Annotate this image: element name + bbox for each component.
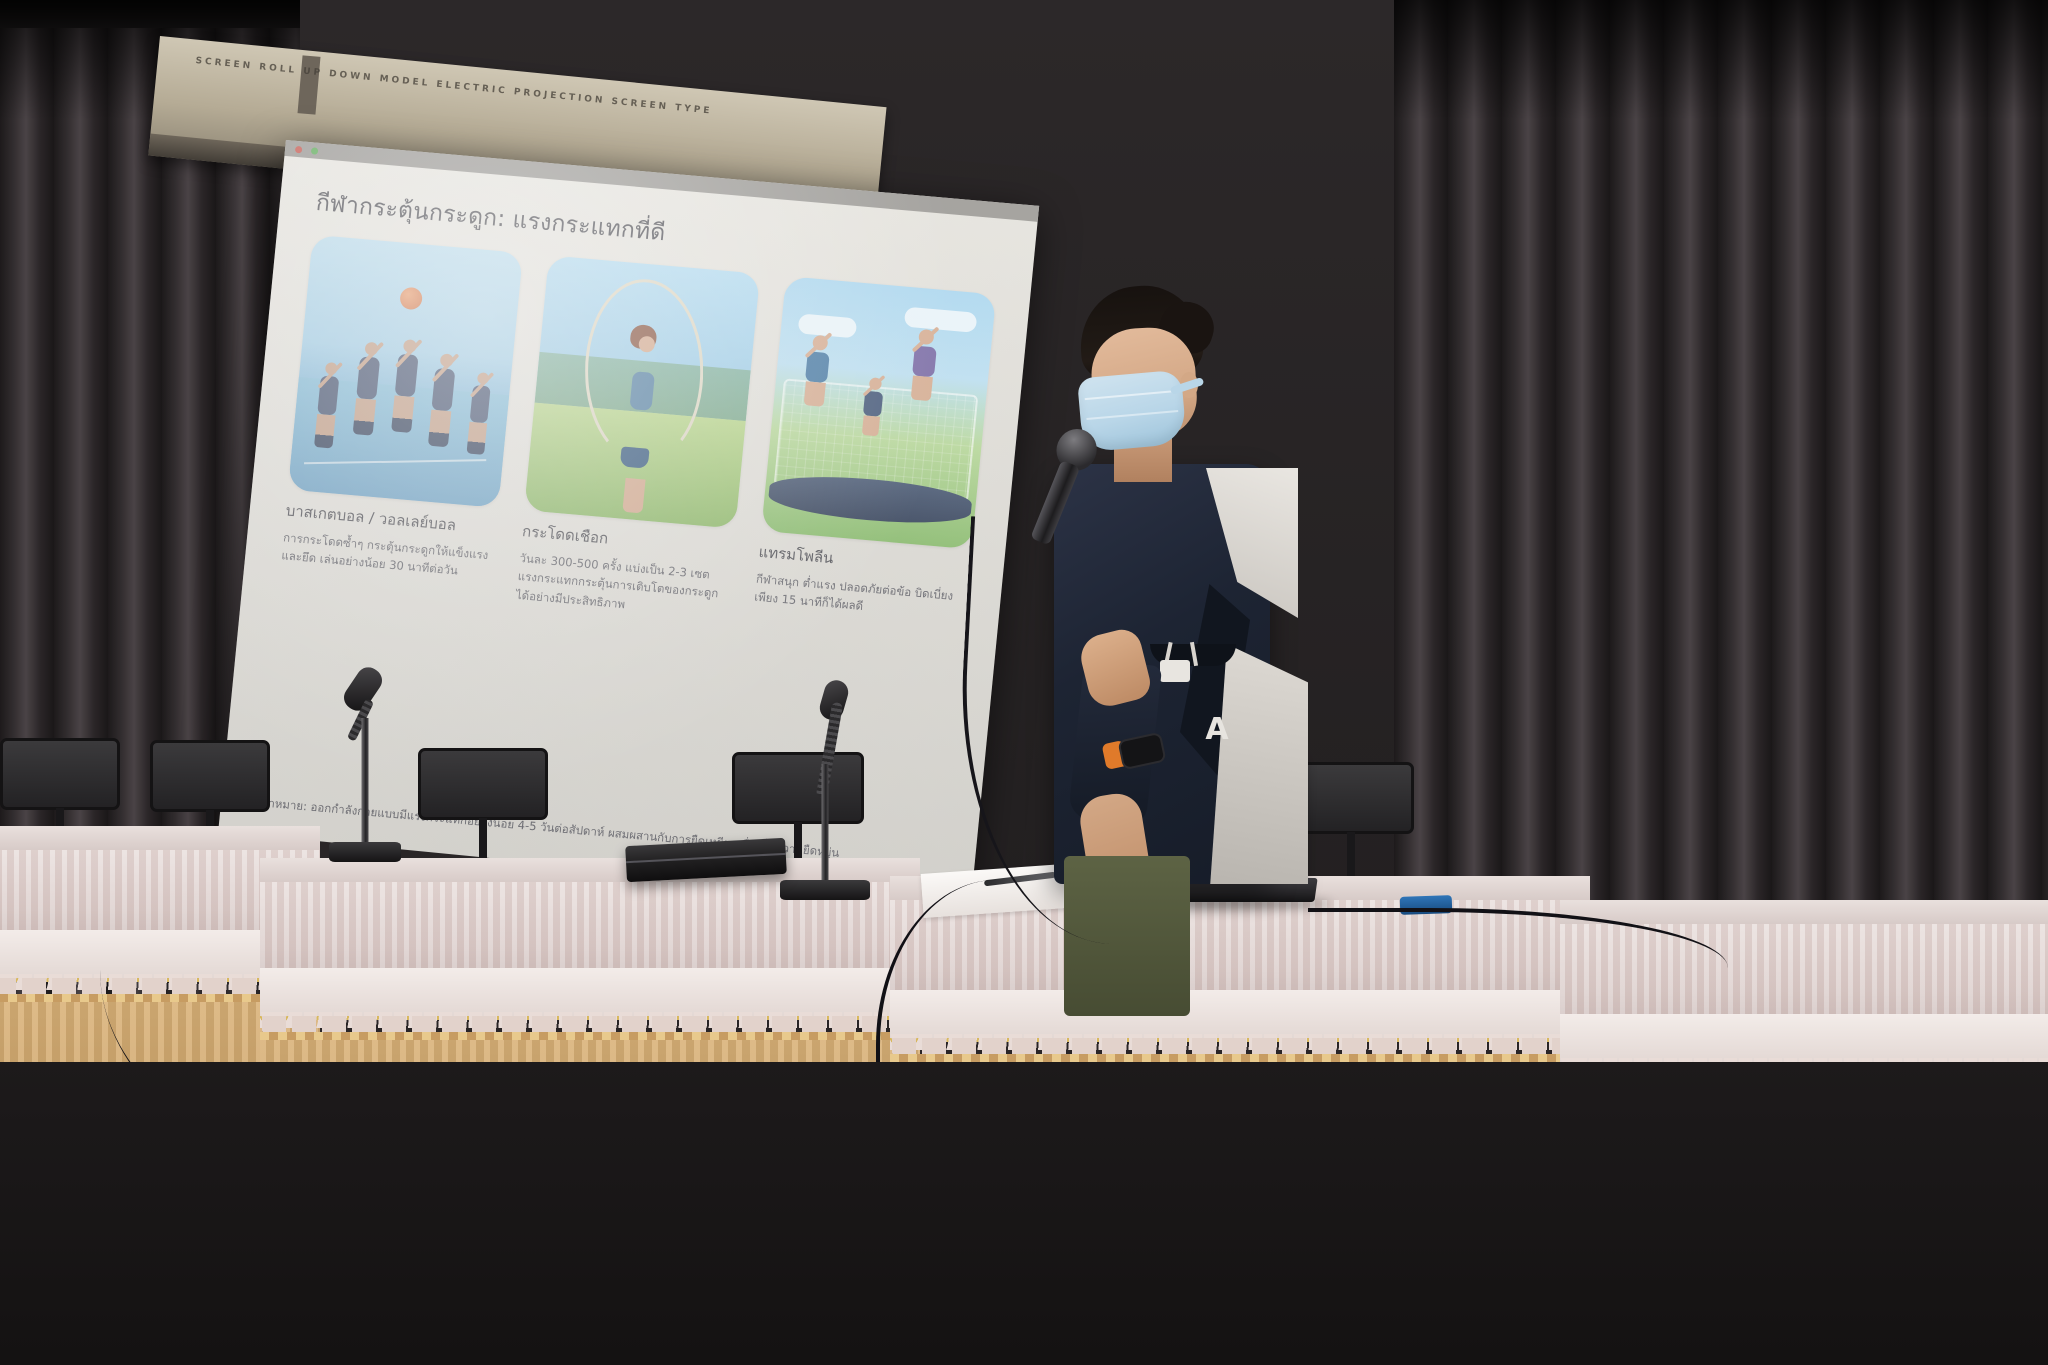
chair-back [418,748,548,820]
desk-microphone [320,672,410,862]
player-legs [467,422,488,455]
name-badge [1160,660,1190,682]
conference-room-scene: SCREEN ROLL UP DOWN MODEL ELECTRIC PROJE… [0,0,2048,1365]
slide-card: บาสเกตบอล / วอลเลย์บอล การกระโดดซ้ำๆ กระ… [281,235,524,584]
chair-back [0,738,120,810]
slide-card: แทรมโพลีน กีฬาสนุก ต่ำแรง ปลอดภัยต่อข้อ … [753,276,996,625]
slide-card: กระโดดเชือก วันละ 300-500 ครั้ง แบ่งเป็น… [515,255,760,622]
jumping-child [910,329,939,402]
microphone-pole [362,718,369,846]
jersey-logo: A [1200,710,1234,750]
table-top [0,826,320,852]
cloud [904,307,978,333]
microphone-base [780,880,870,900]
curtain-shadow [1394,0,2048,120]
trampoline-illustration [761,276,997,549]
player-legs [428,409,451,447]
player-legs [353,398,376,436]
chair-back [150,740,270,812]
maximize-icon[interactable] [311,147,319,155]
close-icon[interactable] [295,146,303,154]
child-legs [862,415,880,436]
jump-rope-illustration [524,255,760,528]
player-legs [391,396,414,434]
microphone-gooseneck [816,702,844,798]
slide-cards: บาสเกตบอล / วอลเลย์บอล การกระโดดซ้ำๆ กระ… [279,235,997,643]
microphone-base [329,842,401,862]
chair-post [1347,832,1355,878]
table-valance [1560,1014,2048,1066]
basketball-volleyball-illustration [288,235,524,508]
microphone-pole [822,764,829,884]
stage-curtain-right [1394,0,2048,1010]
basketball-icon [399,286,423,310]
jumper-body [630,371,656,411]
player-legs [314,414,336,449]
child-legs [804,382,826,408]
jumper-legs [622,478,645,514]
stage-floor [0,1062,2048,1365]
card-body: วันละ 300-500 ครั้ง แบ่งเป็น 2-3 เซต แรง… [515,548,731,622]
table-top [1560,900,2048,926]
laptop-lid-seam [626,853,786,863]
child-legs [911,375,933,401]
